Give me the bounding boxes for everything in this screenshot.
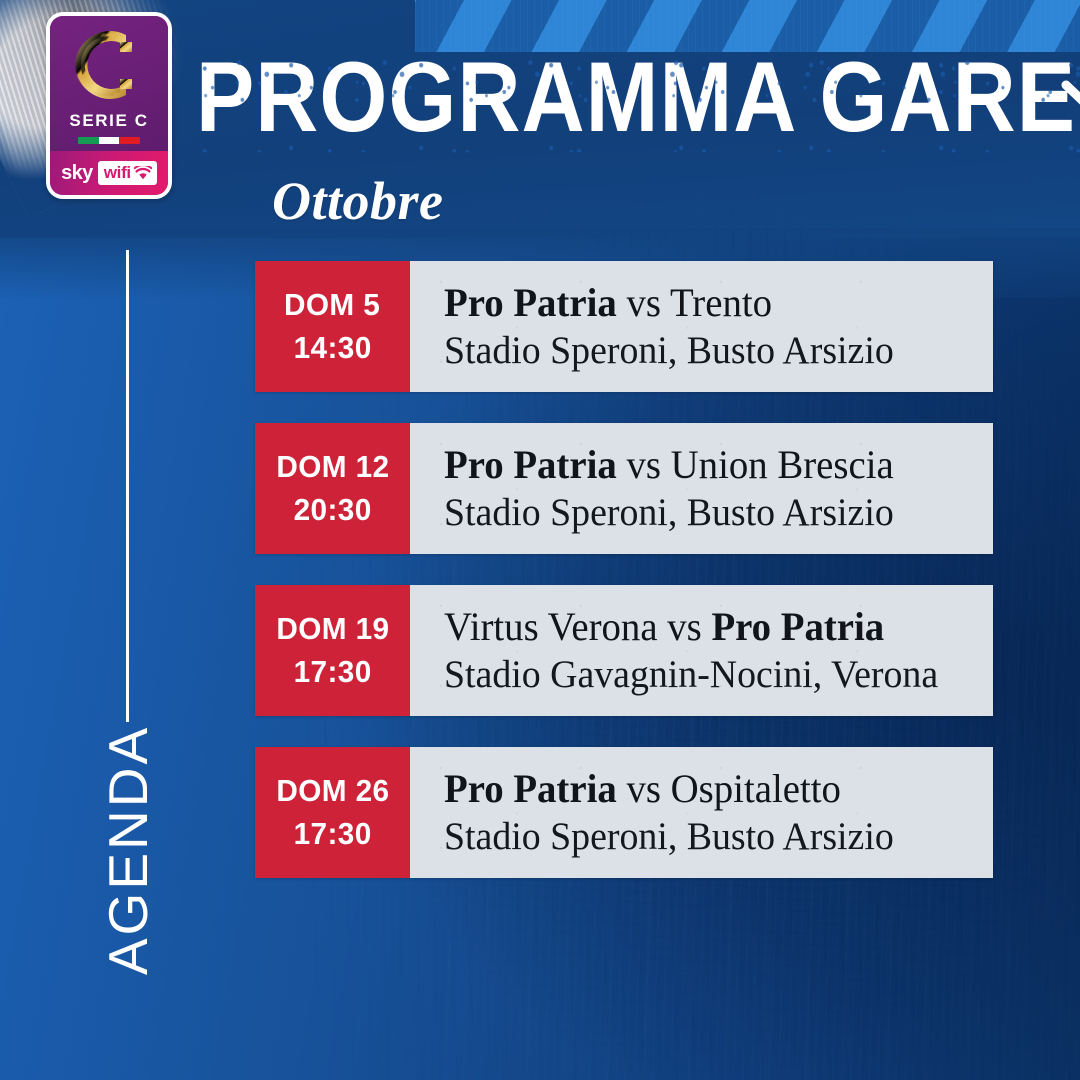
wifi-label: wifi: [104, 163, 131, 183]
match-day: DOM 5: [284, 287, 380, 323]
match-info: Pro Patria vs Trento Stadio Speroni, Bus…: [410, 261, 993, 392]
match-home-team: Virtus Verona: [444, 604, 658, 649]
match-venue: Stadio Gavagnin-Nocini, Verona: [444, 654, 977, 695]
match-date-block: DOM 26 17:30: [255, 747, 410, 878]
sky-wifi-sponsor: sky wifi: [50, 151, 168, 195]
match-list: DOM 5 14:30 Pro Patria vs Trento Stadio …: [255, 261, 993, 878]
agenda-poster: SERIE C sky wifi PROGRAMMA: [0, 0, 1080, 1080]
match-info: Virtus Verona vs Pro Patria Stadio Gavag…: [410, 585, 993, 716]
logo-competition-label: SERIE C: [69, 111, 148, 131]
match-row[interactable]: DOM 12 20:30 Pro Patria vs Union Brescia…: [255, 423, 993, 554]
match-separator: vs: [626, 280, 661, 325]
match-row[interactable]: DOM 19 17:30 Virtus Verona vs Pro Patria…: [255, 585, 993, 716]
wifi-signal-icon: [134, 166, 152, 180]
match-time: 20:30: [293, 492, 371, 528]
match-day: DOM 26: [276, 773, 389, 809]
match-venue: Stadio Speroni, Busto Arsizio: [444, 816, 977, 857]
match-teams: Virtus Verona vs Pro Patria: [444, 606, 977, 648]
match-home-team: Pro Patria: [444, 442, 617, 487]
page-header: PROGRAMMA GARE: [196, 58, 1026, 138]
match-info: Pro Patria vs Ospitaletto Stadio Speroni…: [410, 747, 993, 878]
serie-c-letter-icon: [70, 26, 148, 104]
match-row[interactable]: DOM 26 17:30 Pro Patria vs Ospitaletto S…: [255, 747, 993, 878]
match-home-team: Pro Patria: [444, 280, 617, 325]
match-date-block: DOM 19 17:30: [255, 585, 410, 716]
match-separator: vs: [667, 604, 702, 649]
match-home-team: Pro Patria: [444, 766, 617, 811]
match-time: 17:30: [293, 654, 371, 690]
match-away-team: Trento: [670, 280, 772, 325]
match-time: 14:30: [293, 330, 371, 366]
match-day: DOM 12: [276, 449, 389, 485]
serie-c-logo: SERIE C sky wifi: [46, 12, 172, 199]
match-date-block: DOM 5 14:30: [255, 261, 410, 392]
agenda-rail-line: [126, 250, 129, 722]
match-away-team: Ospitaletto: [671, 766, 841, 811]
match-day: DOM 19: [276, 611, 389, 647]
match-separator: vs: [626, 766, 661, 811]
match-info: Pro Patria vs Union Brescia Stadio Spero…: [410, 423, 993, 554]
month-subtitle: Ottobre: [272, 170, 444, 232]
sky-label: sky: [61, 162, 93, 185]
match-teams: Pro Patria vs Trento: [444, 282, 977, 324]
match-venue: Stadio Speroni, Busto Arsizio: [444, 330, 977, 371]
match-teams: Pro Patria vs Union Brescia: [444, 444, 977, 486]
match-time: 17:30: [293, 816, 371, 852]
match-separator: vs: [626, 442, 661, 487]
match-away-team: Pro Patria: [711, 604, 884, 649]
page-title-text: PROGRAMMA GARE: [196, 41, 1076, 152]
match-away-team: Union Brescia: [671, 442, 894, 487]
agenda-vertical-label: AGENDA: [96, 700, 160, 1000]
match-date-block: DOM 12 20:30: [255, 423, 410, 554]
match-row[interactable]: DOM 5 14:30 Pro Patria vs Trento Stadio …: [255, 261, 993, 392]
italian-flag-icon: [78, 137, 140, 144]
match-venue: Stadio Speroni, Busto Arsizio: [444, 492, 977, 533]
match-teams: Pro Patria vs Ospitaletto: [444, 768, 977, 810]
page-title: PROGRAMMA GARE: [196, 51, 1076, 145]
